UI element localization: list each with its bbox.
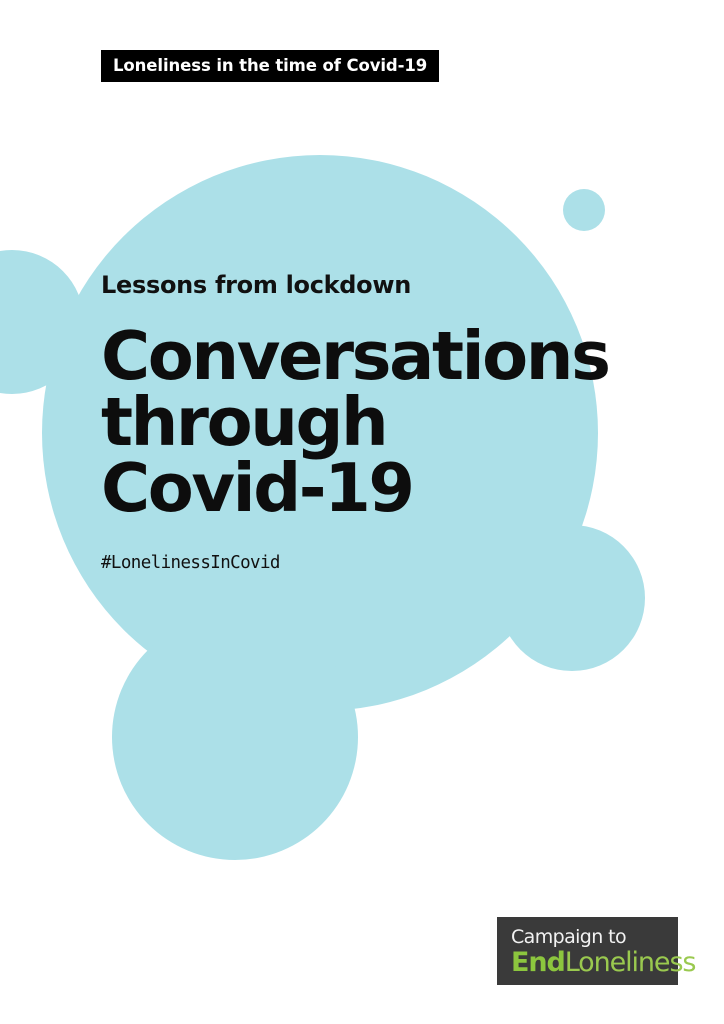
logo-line-end-loneliness: EndLoneliness: [511, 949, 678, 977]
logo-word-end: End: [511, 947, 565, 978]
hashtag-text: #LonelinessInCovid: [101, 555, 601, 573]
title-block: Lessons from lockdown Conversations thro…: [101, 272, 601, 573]
logo-word-loneliness: Loneliness: [565, 947, 696, 978]
page-title: Conversations through Covid-19: [101, 324, 601, 521]
top-right-dot-circle: [563, 189, 605, 231]
series-eyebrow-label: Loneliness in the time of Covid-19: [113, 58, 427, 75]
page-title-line-1: Conversations: [101, 324, 601, 390]
page-title-line-2: through: [101, 390, 601, 456]
campaign-to-end-loneliness-logo: Campaign to EndLoneliness: [497, 917, 678, 985]
kicker-text: Lessons from lockdown: [101, 272, 601, 298]
logo-line-campaign-to: Campaign to: [511, 928, 678, 948]
series-eyebrow-bar: Loneliness in the time of Covid-19: [101, 50, 439, 82]
document-cover-page: Loneliness in the time of Covid-19 Lesso…: [0, 0, 724, 1024]
bottom-left-circle: [112, 614, 358, 860]
left-small-circle: [0, 250, 84, 394]
page-title-line-3: Covid-19: [101, 456, 601, 522]
